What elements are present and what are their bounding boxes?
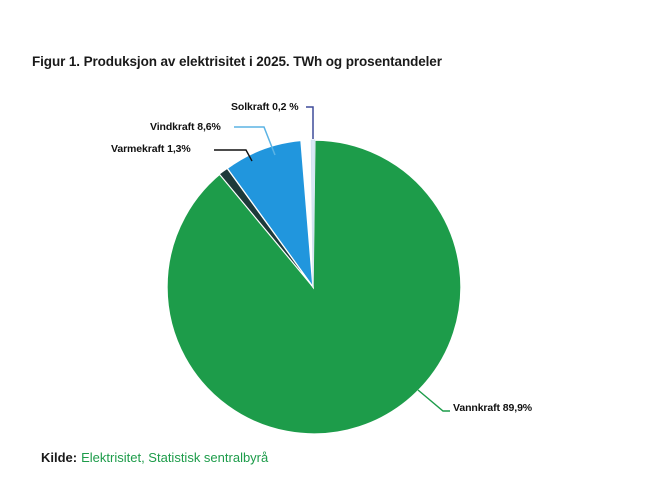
pie-chart-plot	[0, 0, 650, 500]
pie-label-varmekraft: Varmekraft 1,3%	[111, 143, 191, 155]
pie-label-vindkraft: Vindkraft 8,6%	[150, 121, 221, 133]
figure-container: Figur 1. Produksjon av elektrisitet i 20…	[0, 0, 650, 500]
pie-label-vannkraft: Vannkraft 89,9%	[453, 402, 532, 414]
source-link[interactable]: Elektrisitet, Statistisk sentralbyrå	[81, 450, 268, 465]
leader-line-solkraft	[306, 107, 313, 139]
source-label: Kilde:	[41, 450, 77, 465]
source-line: Kilde:Elektrisitet, Statistisk sentralby…	[41, 450, 268, 465]
pie-chart-svg	[0, 0, 650, 500]
pie-label-solkraft: Solkraft 0,2 %	[231, 101, 298, 113]
leader-line-vannkraft	[418, 390, 450, 411]
